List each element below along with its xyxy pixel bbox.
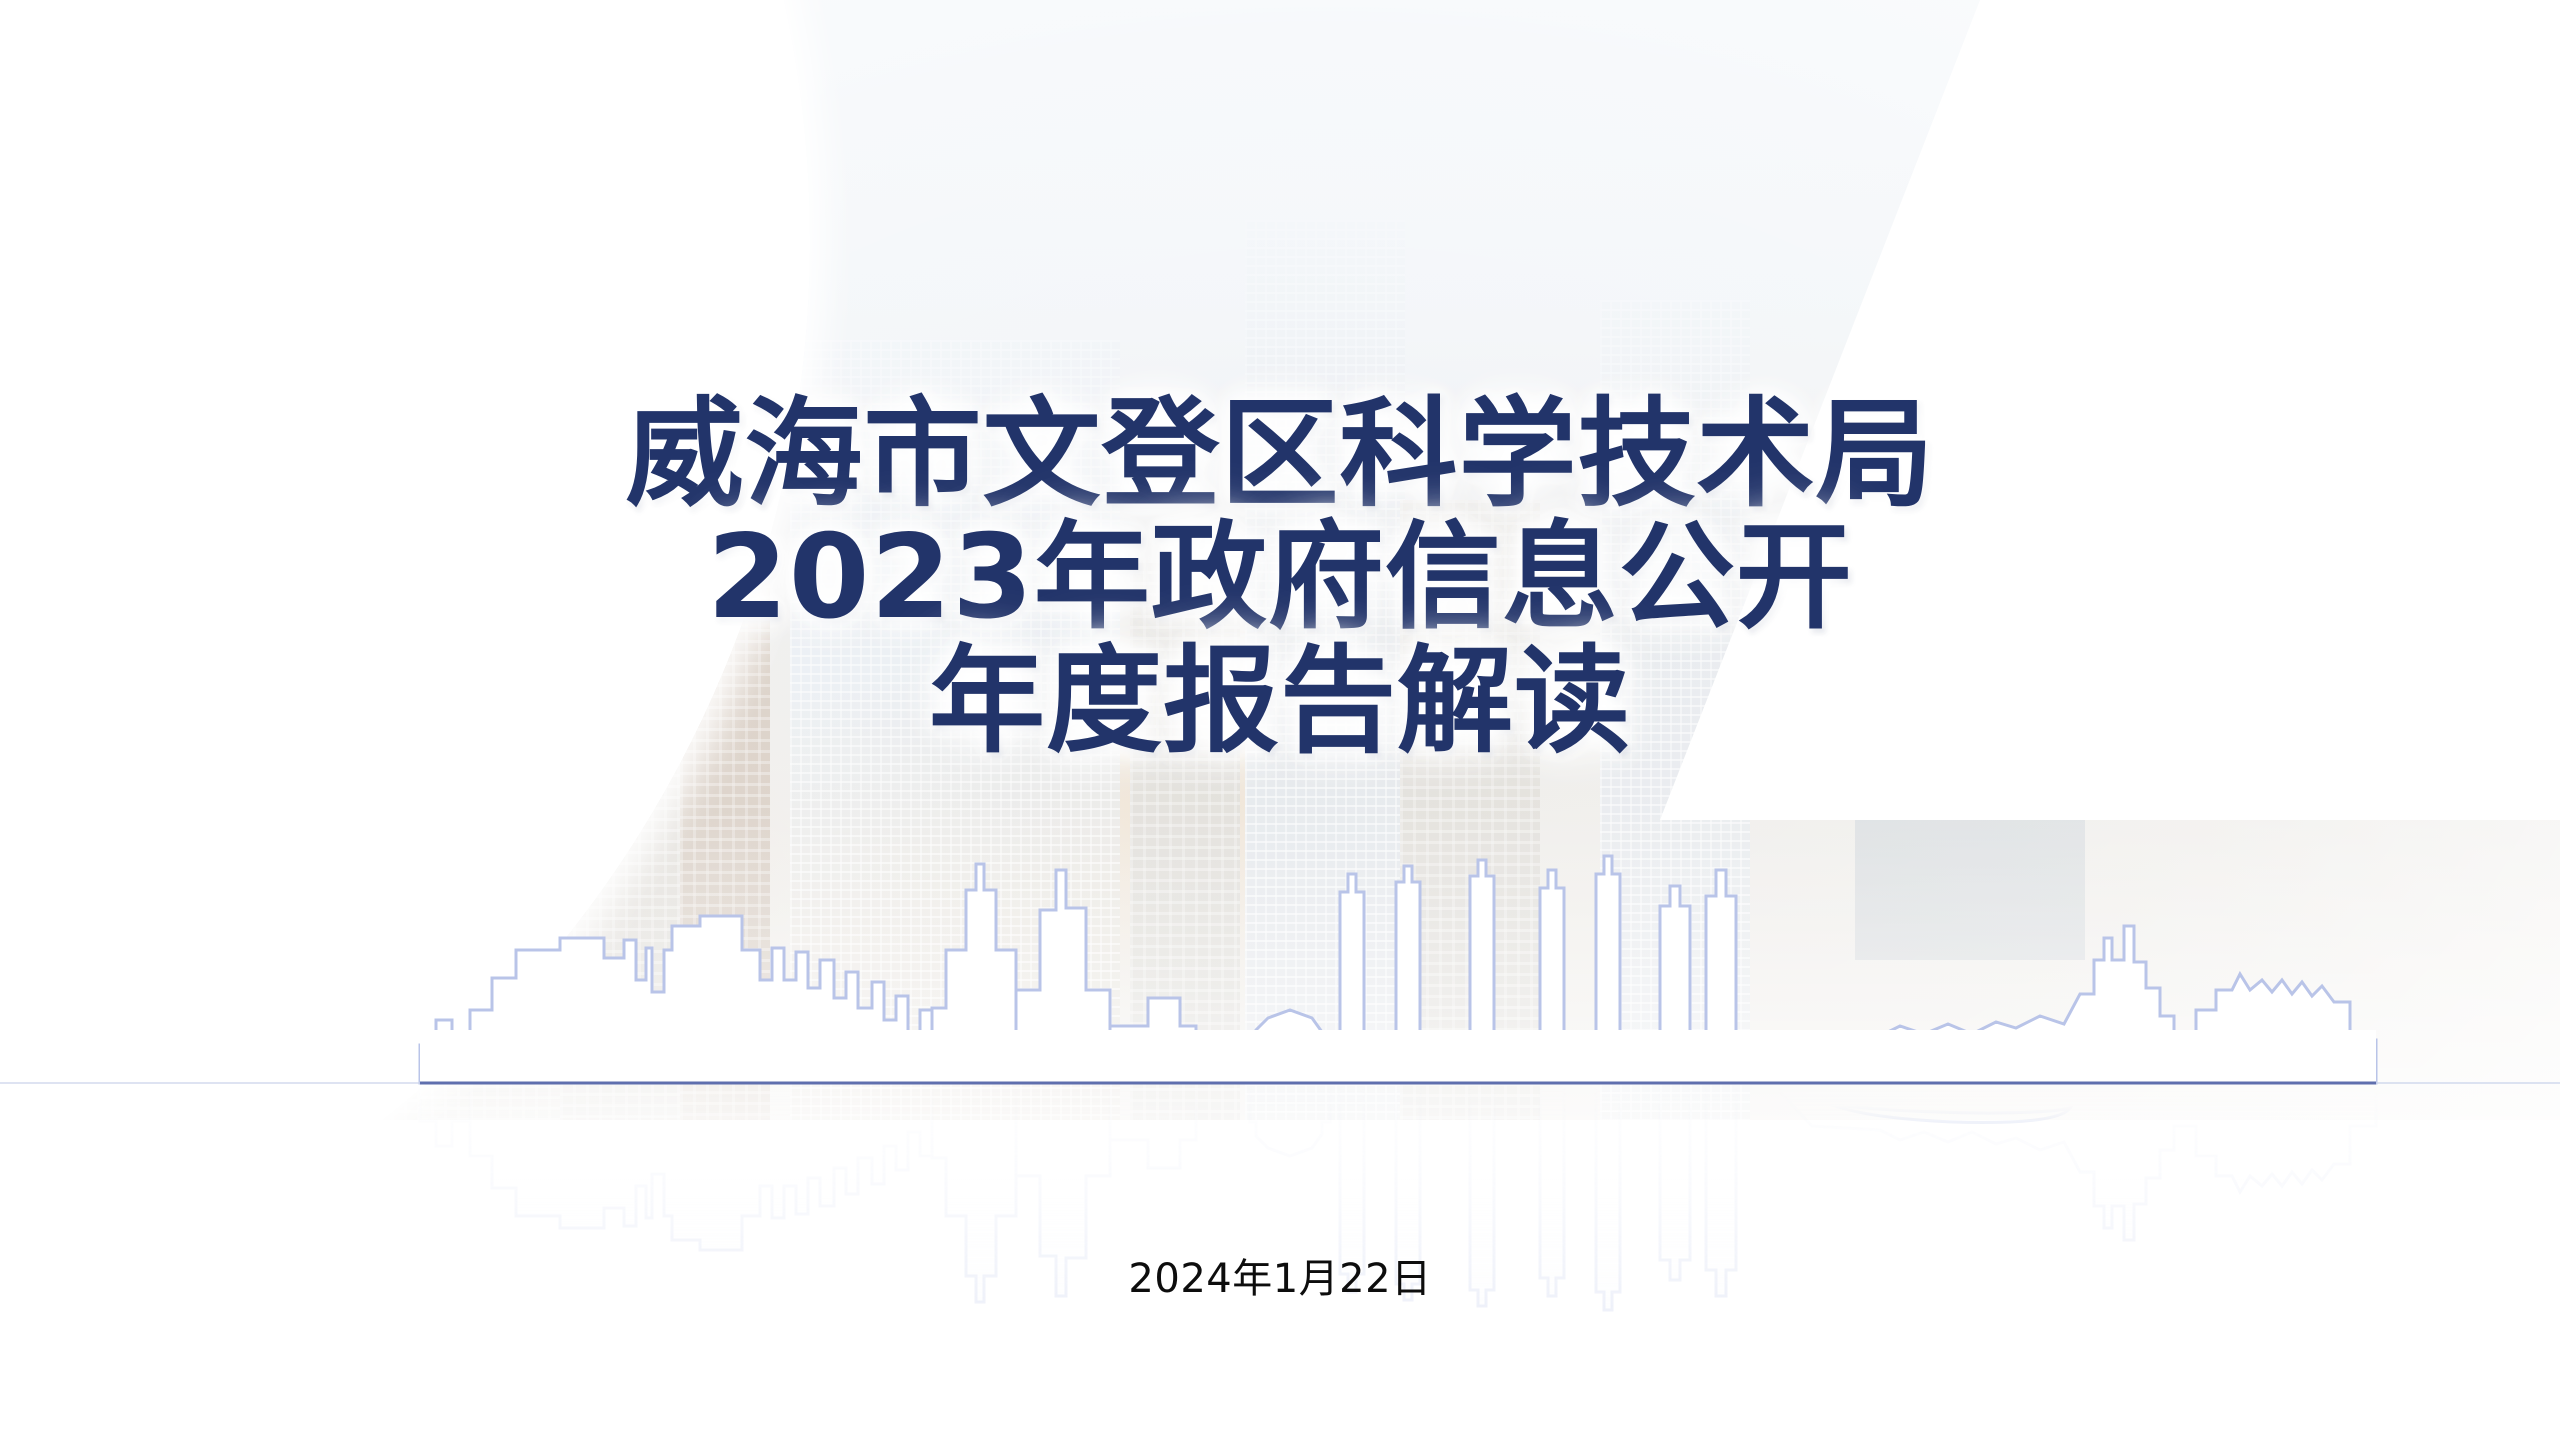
title-slide: 威海市文登区科学技术局 2023年政府信息公开 年度报告解读 2024年1月22… (0, 0, 2560, 1440)
skyline-silhouette (420, 856, 2376, 1083)
slide-date: 2024年1月22日 (0, 1246, 2560, 1304)
